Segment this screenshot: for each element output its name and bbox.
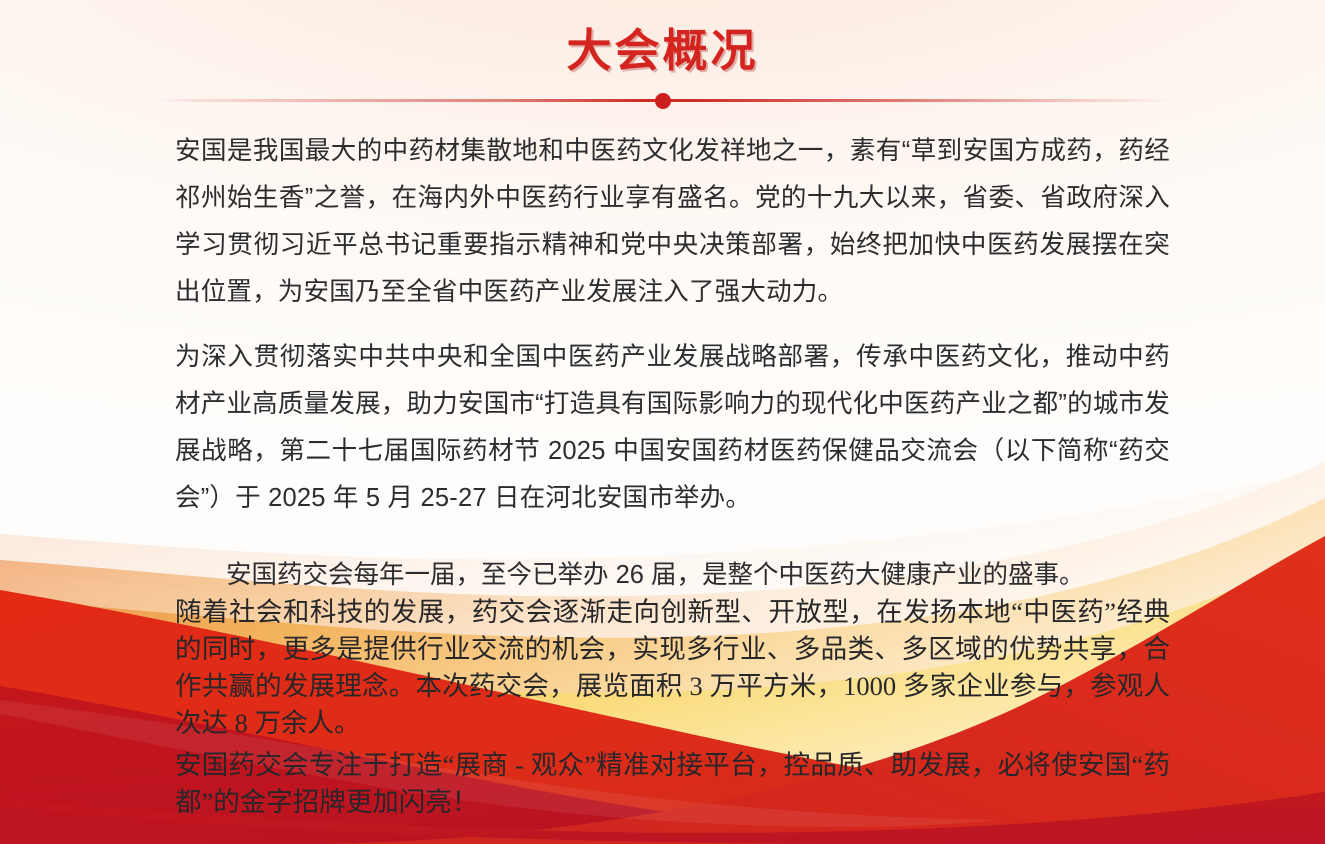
overview-content: 安国是我国最大的中药材集散地和中医药文化发祥地之一，素有“草到安国方成药，药经祁…: [175, 128, 1170, 522]
overview-highlight: 安国药交会每年一届，至今已举办 26 届，是整个中医药大健康产业的盛事。 随着社…: [175, 556, 1170, 821]
slide-page: 大会概况 安国是我国最大的中药材集散地和中医药文化发祥地之一，素有“草到安国方成…: [0, 0, 1325, 844]
highlight-body: 随着社会和科技的发展，药交会逐渐走向创新型、开放型，在发扬本地“中医药”经典的同…: [175, 594, 1170, 742]
highlight-lead-line: 安国药交会每年一届，至今已举办 26 届，是整个中医药大健康产业的盛事。: [175, 556, 1170, 594]
page-title: 大会概况: [0, 14, 1325, 79]
paragraph-2: 为深入贯彻落实中共中央和全国中医药产业发展战略部署，传承中医药文化，推动中药材产…: [175, 334, 1170, 522]
paragraph-1: 安国是我国最大的中药材集散地和中医药文化发祥地之一，素有“草到安国方成药，药经祁…: [175, 128, 1170, 316]
divider-dot-icon: [655, 93, 671, 109]
highlight-tail: 安国药交会专注于打造“展商 - 观众”精准对接平台，控品质、助发展，必将使安国“…: [175, 747, 1170, 821]
header: 大会概况: [0, 0, 1325, 125]
